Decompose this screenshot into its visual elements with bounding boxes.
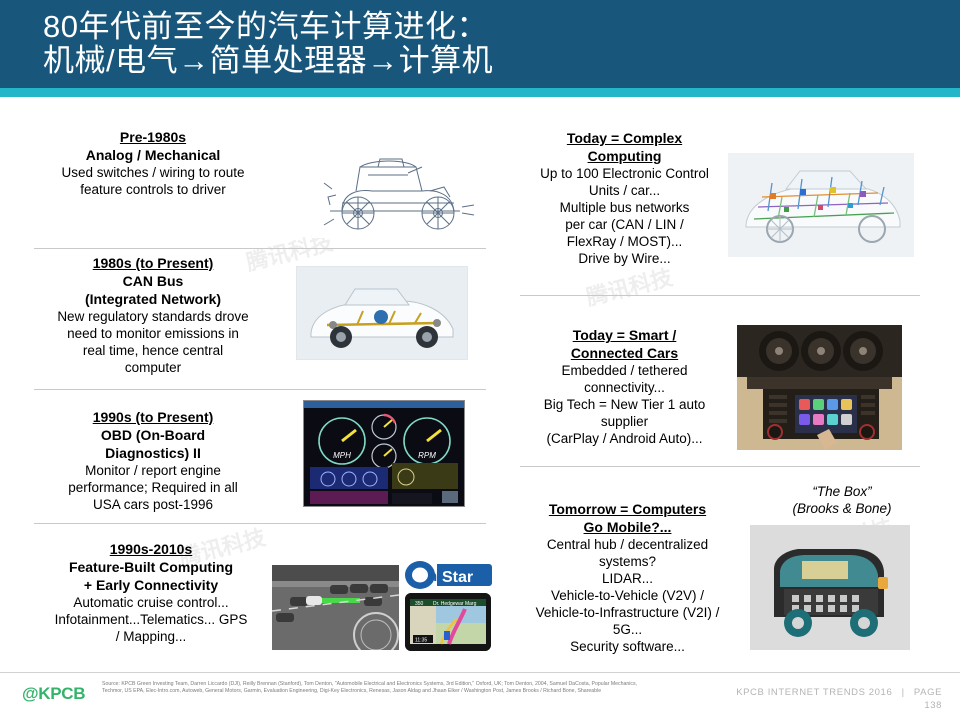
left-block-3-subheading: OBD (On-Board Diagnostics) II (34, 426, 272, 462)
left-block-1990s-obd: 1990s (to Present) OBD (On-Board Diagnos… (34, 408, 272, 513)
watermark: 腾讯科技 (582, 260, 675, 312)
kpcb-logo: @KPCB (22, 684, 85, 704)
header-accent-bar (0, 88, 960, 97)
the-box-caption: “The Box” (Brooks & Bone) (752, 483, 932, 517)
left-block-2-body: New regulatory standards drove need to m… (34, 308, 272, 376)
left-block-1-subheading: Analog / Mechanical (34, 146, 272, 164)
page-title: 80年代前至今的汽车计算进化： 机械/电气→简单处理器→计算机 (43, 10, 923, 78)
left-divider-1 (34, 248, 486, 249)
gps-eta: 11:35 (415, 638, 427, 644)
left-divider-3 (34, 523, 486, 524)
can-bus-car-diagram (296, 266, 468, 360)
cruise-control-photo (272, 565, 399, 650)
right-divider-2 (520, 466, 920, 467)
svg-text:n: n (428, 568, 437, 585)
left-block-4-body: Automatic cruise control... Infotainment… (22, 594, 280, 645)
right-block-1-body: Up to 100 Electronic Control Units / car… (522, 165, 727, 267)
left-block-1-body: Used switches / wiring to route feature … (34, 164, 272, 198)
obd-dashboard-software: MPH RPM (303, 400, 465, 507)
right-block-1-heading: Today = Complex Computing (522, 129, 727, 165)
left-block-2-heading: 1980s (to Present) (34, 254, 272, 272)
svg-text:MPH: MPH (333, 451, 351, 460)
onstar-logo: n Star (404, 560, 492, 590)
meta-separator: | (896, 687, 911, 698)
antique-car-line-drawing (312, 133, 487, 238)
right-block-3-body: Central hub / decentralized systems? LID… (515, 536, 740, 655)
gps-navigation-device: 350 Dr. Hedgewar Marg 11:35 (405, 593, 491, 651)
right-block-2-body: Embedded / tethered connectivity... Big … (522, 362, 727, 447)
page-label: PAGE (914, 687, 942, 698)
page-number: 138 (924, 700, 942, 711)
right-block-tomorrow: Tomorrow = Computers Go Mobile?... Centr… (515, 500, 740, 655)
source-citation: Source: KPCB Green Investing Team, Darre… (102, 681, 647, 694)
left-block-4-subheading: Feature-Built Computing + Early Connecti… (22, 558, 280, 594)
svg-text:RPM: RPM (418, 451, 436, 460)
the-box-concept-vehicle (750, 525, 910, 650)
left-block-4-heading: 1990s-2010s (22, 540, 280, 558)
right-block-today-complex: Today = Complex Computing Up to 100 Elec… (522, 129, 727, 267)
slide-header: 80年代前至今的汽车计算进化： 机械/电气→简单处理器→计算机 (0, 0, 960, 88)
deck-title: KPCB INTERNET TRENDS 2016 (736, 687, 892, 698)
left-block-3-body: Monitor / report engine performance; Req… (34, 462, 272, 513)
left-block-pre-1980s: Pre-1980s Analog / Mechanical Used switc… (34, 128, 272, 198)
right-block-2-heading: Today = Smart / Connected Cars (522, 326, 727, 362)
car-interior-carplay-photo (737, 325, 902, 450)
left-block-1980s-can-bus: 1980s (to Present) CAN Bus (Integrated N… (34, 254, 272, 376)
footer-divider (0, 672, 960, 673)
left-block-1-heading: Pre-1980s (34, 128, 272, 146)
ecu-wiring-diagram (728, 153, 914, 257)
right-block-3-heading: Tomorrow = Computers Go Mobile?... (515, 500, 740, 536)
left-block-3-heading: 1990s (to Present) (34, 408, 272, 426)
right-block-today-smart: Today = Smart / Connected Cars Embedded … (522, 326, 727, 447)
left-divider-2 (34, 389, 486, 390)
page-meta: KPCB INTERNET TRENDS 2016 | PAGE 138 (682, 686, 942, 712)
svg-text:Star: Star (442, 569, 473, 586)
left-block-2-subheading: CAN Bus (Integrated Network) (34, 272, 272, 308)
right-divider-1 (520, 295, 920, 296)
left-block-1990s-2010s: 1990s-2010s Feature-Built Computing + Ea… (22, 540, 280, 645)
